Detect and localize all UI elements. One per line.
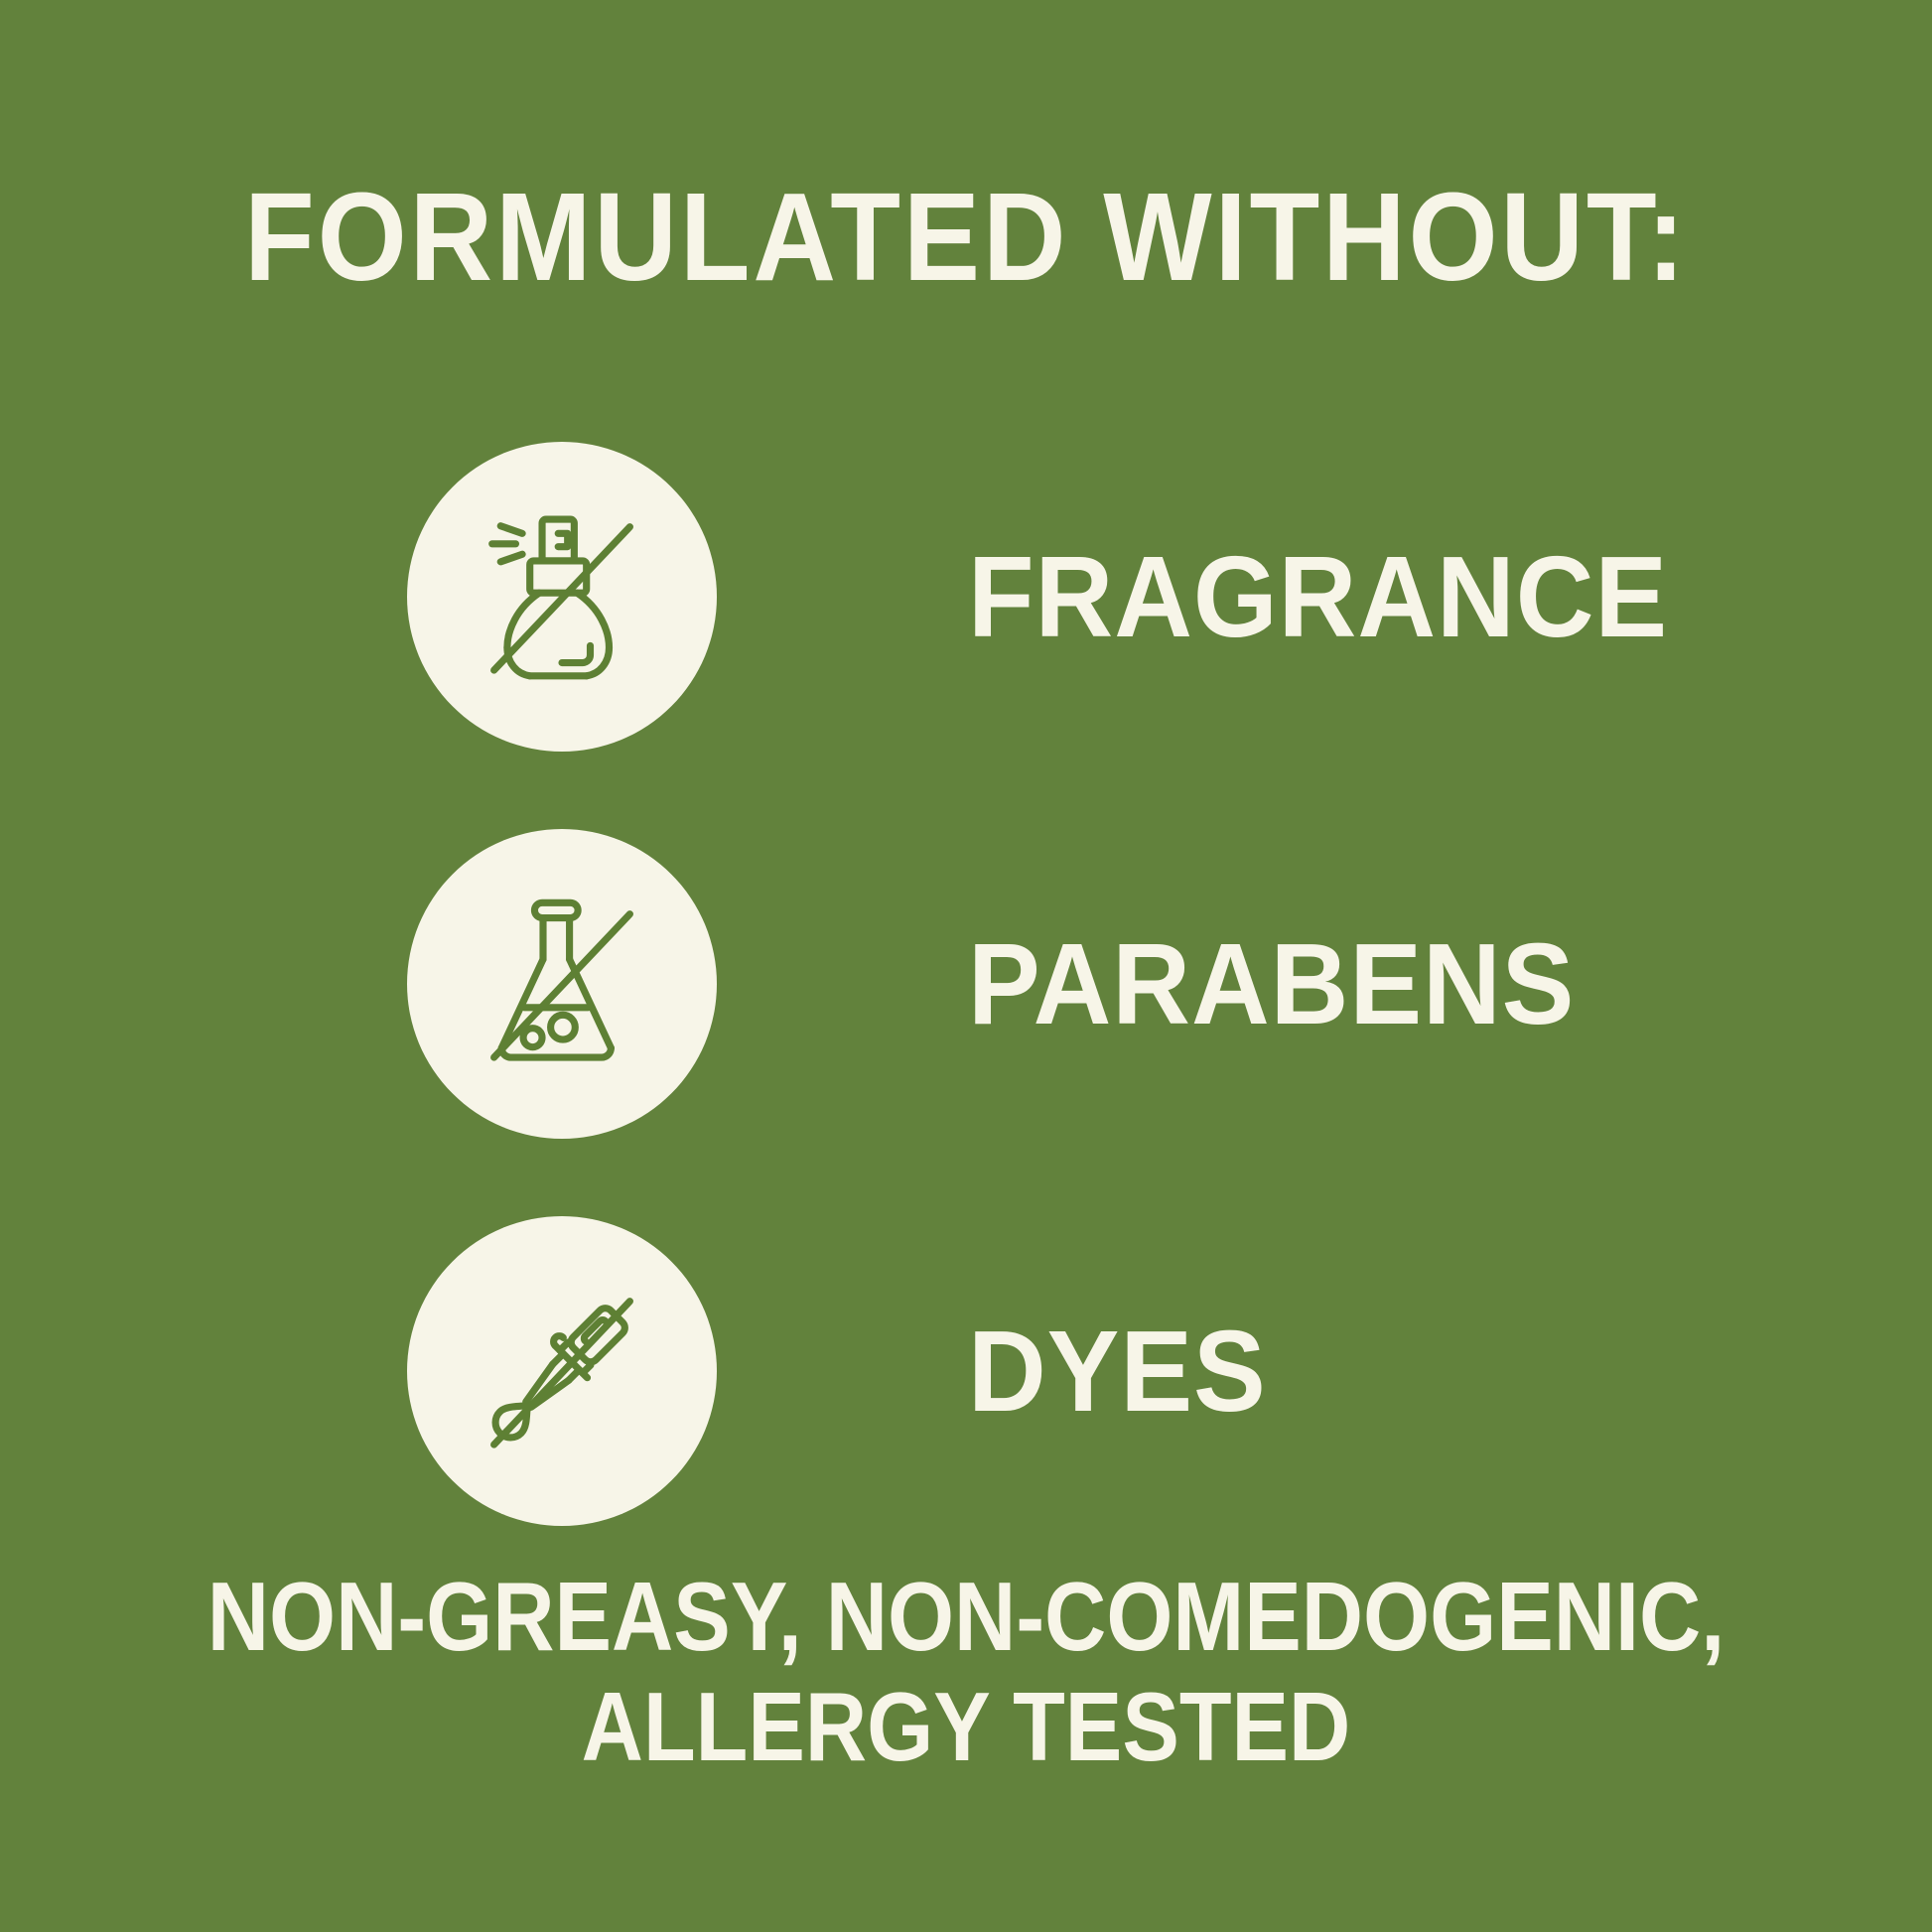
no-dyes-dropper-icon	[468, 1277, 656, 1465]
excluded-ingredients-list: FRAGRANCE	[0, 403, 1932, 1565]
no-fragrance-badge	[407, 442, 717, 752]
footer-line-2: ALLERGY TESTED	[116, 1672, 1816, 1783]
list-item: PARABENS	[0, 790, 1932, 1177]
no-parabens-badge	[407, 829, 717, 1139]
list-item-label: PARABENS	[968, 926, 1575, 1041]
page-title: FORMULATED WITHOUT:	[77, 175, 1855, 300]
list-item: DYES	[0, 1177, 1932, 1565]
list-item: FRAGRANCE	[0, 403, 1932, 790]
list-item-label: DYES	[968, 1313, 1267, 1429]
footer-line-1: NON-GREASY, NON-COMEDOGENIC,	[116, 1562, 1816, 1673]
formulated-without-poster: FORMULATED WITHOUT:	[0, 0, 1932, 1932]
list-item-label: FRAGRANCE	[968, 539, 1668, 654]
no-parabens-flask-icon	[468, 890, 656, 1078]
footer-claims: NON-GREASY, NON-COMEDOGENIC, ALLERGY TES…	[116, 1562, 1816, 1783]
no-dyes-badge	[407, 1216, 717, 1526]
no-fragrance-spray-bottle-icon	[468, 502, 656, 691]
